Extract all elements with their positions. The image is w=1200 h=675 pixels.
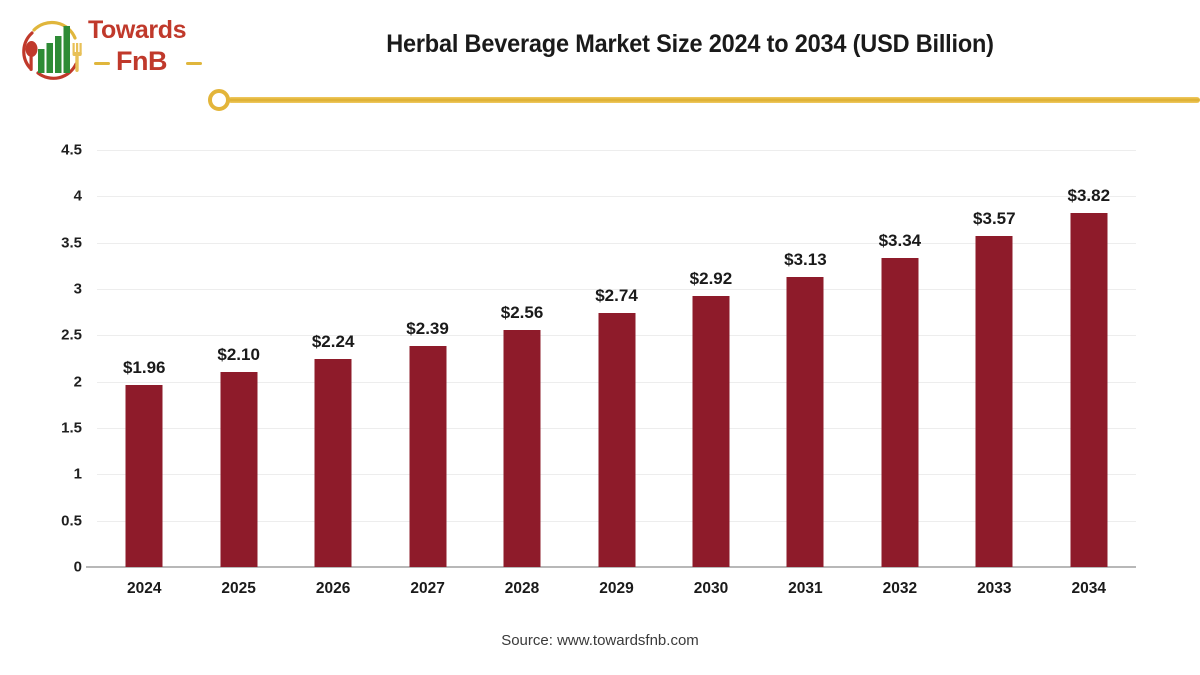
- x-axis-tick-label: 2027: [380, 580, 476, 598]
- bar-group[interactable]: $3.34: [852, 150, 948, 567]
- chart-page: Towards FnB Herbal Beverage Market Size …: [0, 0, 1200, 675]
- x-axis-tick-label: 2031: [757, 580, 853, 598]
- bar-group[interactable]: $2.24: [285, 150, 381, 567]
- bar-group[interactable]: $2.10: [191, 150, 287, 567]
- source-note: Source: www.towardsfnb.com: [0, 632, 1200, 649]
- x-axis-tick-label: 2034: [1041, 580, 1137, 598]
- y-axis-tick-label: 1: [22, 466, 82, 483]
- bar-value-label: $2.74: [595, 286, 638, 306]
- y-axis-tick-label: 4: [22, 188, 82, 205]
- bar-value-label: $2.56: [501, 303, 544, 323]
- bar-value-label: $2.39: [406, 319, 449, 339]
- bar-value-label: $3.34: [879, 231, 922, 251]
- y-axis-tick-label: 1.5: [22, 420, 82, 437]
- bar-group[interactable]: $1.96: [96, 150, 192, 567]
- bar-2032[interactable]: [881, 258, 918, 568]
- bar-2025[interactable]: [220, 372, 257, 567]
- bar-value-label: $3.13: [784, 250, 827, 270]
- bar-group[interactable]: $3.82: [1041, 150, 1137, 567]
- x-axis-tick-label: 2028: [474, 580, 570, 598]
- bar-value-label: $2.10: [217, 345, 260, 365]
- bar-group[interactable]: $2.74: [569, 150, 665, 567]
- bar-group[interactable]: $3.57: [946, 150, 1042, 567]
- y-axis-tick-label: 3: [22, 281, 82, 298]
- x-axis-tick-label: 2024: [96, 580, 192, 598]
- y-axis-tick-label: 0.5: [22, 512, 82, 529]
- bar-2028[interactable]: [504, 330, 541, 567]
- bar-2034[interactable]: [1070, 213, 1107, 567]
- bar-2030[interactable]: [692, 296, 729, 567]
- x-axis-tick-label: 2025: [191, 580, 287, 598]
- bar-2026[interactable]: [315, 359, 352, 567]
- bar-group[interactable]: $2.92: [663, 150, 759, 567]
- y-axis-tick-label: 2.5: [22, 327, 82, 344]
- bar-value-label: $1.96: [123, 358, 166, 378]
- bar-value-label: $2.24: [312, 332, 355, 352]
- bar-value-label: $3.57: [973, 209, 1016, 229]
- y-axis-tick-label: 2: [22, 373, 82, 390]
- bar-group[interactable]: $2.39: [380, 150, 476, 567]
- y-axis-tick-label: 0: [22, 559, 82, 576]
- bar-value-label: $3.82: [1067, 186, 1110, 206]
- bar-2033[interactable]: [976, 236, 1013, 567]
- x-axis-tick-label: 2033: [946, 580, 1042, 598]
- bar-group[interactable]: $3.13: [757, 150, 853, 567]
- bar-2024[interactable]: [126, 385, 163, 567]
- bar-value-label: $2.92: [690, 269, 733, 289]
- bar-2027[interactable]: [409, 346, 446, 567]
- y-axis-tick-label: 3.5: [22, 234, 82, 251]
- y-axis-tick-label: 4.5: [22, 142, 82, 159]
- x-axis-tick-label: 2032: [852, 580, 948, 598]
- bar-group[interactable]: $2.56: [474, 150, 570, 567]
- y-axis: 00.511.522.533.544.5: [20, 150, 82, 567]
- x-axis-tick-label: 2030: [663, 580, 759, 598]
- x-axis-tick-label: 2029: [569, 580, 665, 598]
- bar-2029[interactable]: [598, 313, 635, 567]
- chart-canvas: 00.511.522.533.544.5 $1.962024$2.102025$…: [0, 0, 1200, 675]
- x-axis-tick-label: 2026: [285, 580, 381, 598]
- bar-2031[interactable]: [787, 277, 824, 567]
